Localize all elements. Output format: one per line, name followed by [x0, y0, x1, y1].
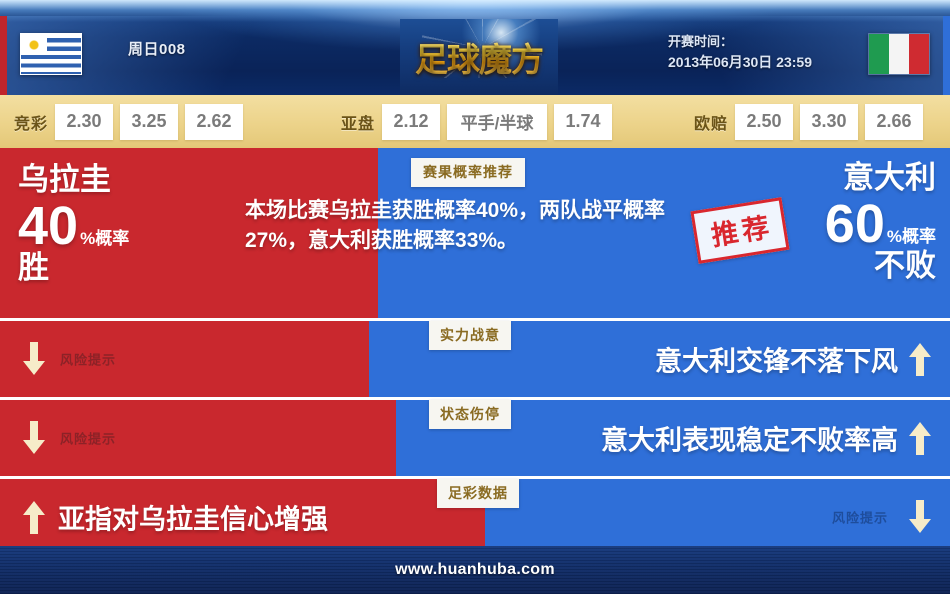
footer: www.huanhuba.com: [0, 546, 950, 594]
home-percent-suffix: %概率: [80, 224, 129, 249]
insight-blue-panel: 足彩数据 风险提示: [485, 479, 950, 555]
odds-cell-draw[interactable]: 3.30: [800, 104, 858, 140]
insight-red-panel: 风险提示: [0, 400, 396, 476]
odds-group-yapan: 亚盘 2.12 平手/半球 1.74: [341, 95, 612, 148]
infographic-page: 周日008 足球魔方 开赛时间： 2013年06月30日 23:59 竞彩 2.…: [0, 0, 950, 594]
away-percent-line: 60 %概率: [825, 197, 936, 251]
insight-text: 意大利交锋不落下风: [655, 340, 898, 379]
site-logo[interactable]: 足球魔方: [400, 19, 558, 95]
probability-summary: 本场比赛乌拉圭获胜概率40%，两队战平概率27%，意大利获胜概率33%。: [245, 196, 675, 256]
header: 周日008 足球魔方 开赛时间： 2013年06月30日 23:59: [0, 0, 950, 95]
insight-red-panel: 亚指对乌拉圭信心增强: [0, 479, 485, 555]
odds-cell-away[interactable]: 1.74: [554, 104, 612, 140]
insight-text: 亚指对乌拉圭信心增强: [58, 498, 328, 537]
insight-tag: 实力战意: [429, 321, 511, 350]
arrow-up-icon: [22, 500, 46, 534]
kickoff-value: 2013年06月30日 23:59: [668, 52, 812, 74]
home-color-tab: [0, 16, 7, 95]
home-team-stat: 乌拉圭 40 %概率 胜: [18, 164, 129, 285]
odds-cell-draw[interactable]: 3.25: [120, 104, 178, 140]
away-percent-value: 60: [825, 197, 885, 251]
probability-tag: 赛果概率推荐: [411, 158, 525, 187]
odds-cell-home[interactable]: 2.30: [55, 104, 113, 140]
away-color-tab: [943, 16, 950, 95]
insight-row: 亚指对乌拉圭信心增强 足彩数据 风险提示: [0, 479, 950, 555]
odds-group-label: 竞彩: [14, 110, 48, 134]
risk-label: 风险提示: [60, 350, 116, 369]
arrow-up-icon: [908, 342, 932, 376]
odds-cell-home[interactable]: 2.50: [735, 104, 793, 140]
odds-group-label: 亚盘: [341, 110, 375, 134]
arrow-up-icon: [908, 421, 932, 455]
insight-text: 意大利表现稳定不败率高: [601, 419, 898, 458]
uruguay-sun-icon: [29, 40, 39, 50]
arrow-down-icon: [22, 342, 46, 376]
odds-cell-handicap[interactable]: 平手/半球: [447, 104, 547, 140]
away-percent-suffix: %概率: [887, 222, 936, 247]
odds-cell-away[interactable]: 2.62: [185, 104, 243, 140]
home-team-name: 乌拉圭: [18, 164, 129, 197]
insight-row: 风险提示 状态伤停 意大利表现稳定不败率高: [0, 400, 950, 476]
home-percent-value: 40: [18, 199, 78, 253]
insight-blue-panel: 实力战意 意大利交锋不落下风: [369, 321, 950, 397]
site-logo-text: 足球魔方: [415, 33, 543, 81]
kickoff-label: 开赛时间：: [668, 32, 812, 52]
home-outcome-word: 胜: [18, 251, 129, 285]
away-outcome-word: 不败: [825, 249, 936, 283]
home-percent-line: 40 %概率: [18, 199, 129, 253]
probability-block: 乌拉圭 40 %概率 胜 赛果概率推荐 本场比赛乌拉圭获胜概率40%，两队战平概…: [0, 148, 950, 318]
risk-label: 风险提示: [60, 429, 116, 448]
odds-bar: 竞彩 2.30 3.25 2.62 亚盘 2.12 平手/半球 1.74 欧赔 …: [0, 95, 950, 148]
away-team-stat: 意大利 60 %概率 不败: [825, 162, 936, 283]
odds-group-oupei: 欧赔 2.50 3.30 2.66: [694, 95, 923, 148]
odds-group-label: 欧赔: [694, 110, 728, 134]
italy-red-band: [909, 34, 929, 74]
risk-label: 风险提示: [832, 508, 888, 527]
match-number: 周日008: [128, 38, 186, 59]
arrow-down-icon: [22, 421, 46, 455]
arrow-down-icon: [908, 500, 932, 534]
insight-tag: 状态伤停: [429, 400, 511, 429]
kickoff-time: 开赛时间： 2013年06月30日 23:59: [668, 32, 812, 74]
insight-tag: 足彩数据: [437, 479, 519, 508]
italy-white-band: [889, 34, 909, 74]
uruguay-flag-icon: [20, 33, 82, 75]
recommend-stamp: 推荐: [690, 197, 789, 264]
odds-group-jingcai: 竞彩 2.30 3.25 2.62: [14, 95, 243, 148]
insight-row: 风险提示 实力战意 意大利交锋不落下风: [0, 321, 950, 397]
away-probability-panel: 赛果概率推荐 本场比赛乌拉圭获胜概率40%，两队战平概率27%，意大利获胜概率3…: [378, 148, 950, 318]
insight-blue-panel: 状态伤停 意大利表现稳定不败率高: [396, 400, 950, 476]
insight-red-panel: 风险提示: [0, 321, 369, 397]
italy-green-band: [869, 34, 889, 74]
odds-cell-home[interactable]: 2.12: [382, 104, 440, 140]
away-team-name: 意大利: [825, 162, 936, 195]
odds-cell-away[interactable]: 2.66: [865, 104, 923, 140]
site-url[interactable]: www.huanhuba.com: [395, 561, 555, 579]
italy-flag-icon: [868, 33, 930, 75]
